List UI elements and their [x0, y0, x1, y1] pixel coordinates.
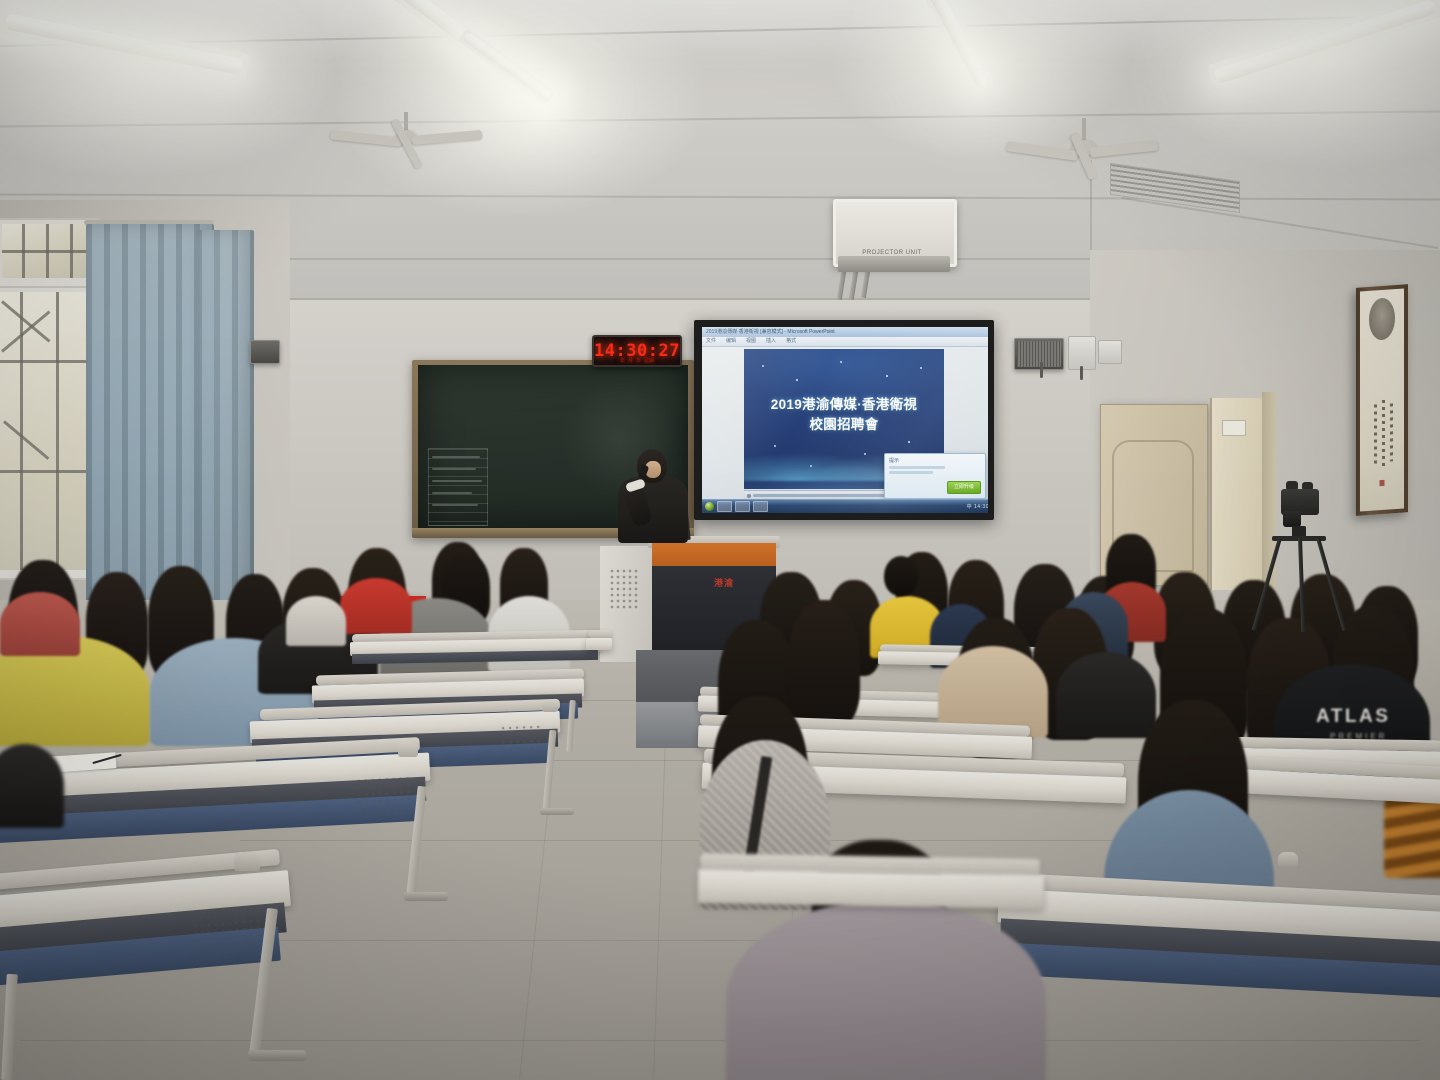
wall-speaker-right [1014, 338, 1064, 370]
atlas-brand-text: ATLAS [1316, 706, 1390, 728]
desk-row-1-center [698, 869, 1045, 909]
popup-text-line [889, 471, 933, 474]
scroll-calligraphy-column [1390, 403, 1393, 461]
slide-star [762, 365, 764, 367]
powerpoint-menubar: 文件 编辑 视图 插入 格式 [702, 337, 988, 347]
scroll-seal [1380, 480, 1385, 486]
desk-right-stub [586, 638, 612, 650]
wall-mount-bracket [1080, 366, 1083, 380]
desk-foot [248, 1050, 306, 1061]
audience-head [788, 600, 860, 728]
framed-calligraphy-scroll [1356, 284, 1408, 516]
clock-subtext: 年 月 日 星期 [594, 357, 680, 364]
desk-side-perforation [499, 723, 544, 755]
audience-torso-red [340, 578, 412, 634]
chalk-line [432, 456, 480, 458]
slide-star [840, 361, 842, 363]
podium-speaker-grill [609, 568, 639, 610]
taskbar-item[interactable] [717, 501, 732, 512]
desk-rail-cap [542, 700, 558, 712]
chalk-line [432, 480, 482, 482]
desk-back-rail [588, 630, 612, 638]
projector-label: PROJECTOR UNIT [855, 250, 929, 256]
window-curtain [196, 230, 254, 620]
popup-text-line [889, 466, 945, 469]
chalk-line [432, 492, 472, 494]
door-sign [1222, 420, 1246, 436]
menu-item-edit[interactable]: 编辑 [726, 337, 736, 346]
slide-title-line1: 2019港渝傳媒·香港衛視 [744, 395, 944, 415]
audience-torso-dark [1056, 652, 1156, 738]
podium-logo: 港渝 [714, 576, 744, 588]
desk-side-perforation [355, 775, 413, 818]
popup-upgrade-button[interactable]: 立即升级 [947, 481, 981, 494]
slide-title: 2019港渝傳媒·香港衛視 校園招聘會 [744, 395, 944, 434]
taskbar-item[interactable] [753, 501, 768, 512]
desk-foot [404, 892, 448, 901]
menu-item-file[interactable]: 文件 [706, 337, 716, 346]
camera-lens [1283, 511, 1301, 527]
menu-item-view[interactable]: 视图 [746, 337, 756, 346]
windows-taskbar[interactable]: 中 14:30 [702, 499, 988, 513]
led-wall-clock: 14:30:27 年 月 日 星期 [592, 335, 682, 367]
wall-control-box [1068, 336, 1096, 370]
taskbar-tray-clock[interactable]: 中 14:30 [967, 503, 988, 510]
play-icon[interactable] [747, 494, 751, 498]
audience-torso-white [286, 596, 346, 646]
wall-mount-bracket [1040, 362, 1043, 378]
speaker-grill [1017, 341, 1061, 367]
window-bar [56, 292, 59, 570]
scroll-calligraphy-column [1382, 400, 1385, 468]
chalk-line [432, 468, 476, 470]
wall-speaker-left [250, 340, 280, 364]
slide-star [920, 367, 922, 369]
desk-rail-cap [234, 852, 260, 871]
audience-torso-dark [0, 592, 80, 656]
update-notification-popup[interactable]: 提示 立即升级 [884, 453, 986, 499]
desk-rail-cap [1278, 852, 1298, 867]
window-curtain [86, 224, 214, 624]
wall-control-box [1098, 340, 1122, 364]
desk-rail-cap [398, 742, 418, 757]
window-bar [0, 470, 94, 473]
popup-title: 提示 [889, 457, 981, 464]
desk-foot [540, 808, 574, 815]
window-bar [2, 250, 90, 253]
slide-title-line2: 校園招聘會 [744, 415, 944, 435]
audience-head [884, 556, 918, 596]
menu-item-insert[interactable]: 插入 [766, 337, 776, 346]
chalk-writing-block [428, 448, 488, 526]
projection-screen: 2019港渝傳媒·香港衛視 [兼容模式] - Microsoft PowerPo… [702, 327, 988, 513]
taskbar-item[interactable] [735, 501, 750, 512]
start-orb-icon[interactable] [705, 502, 714, 511]
window-bar [0, 360, 94, 363]
projector-ceiling-mount [838, 256, 950, 272]
scroll-calligraphy-column [1374, 404, 1377, 466]
floor-seam [20, 1040, 1420, 1041]
menu-item-format[interactable]: 格式 [786, 337, 796, 346]
chalk-line [432, 504, 478, 506]
desk-side-perforation [190, 903, 264, 961]
slide-star [796, 379, 798, 381]
slide-star [886, 375, 888, 377]
classroom-photo: PROJECTOR UNIT 14:30:27 年 月 日 星期 [0, 0, 1440, 1080]
